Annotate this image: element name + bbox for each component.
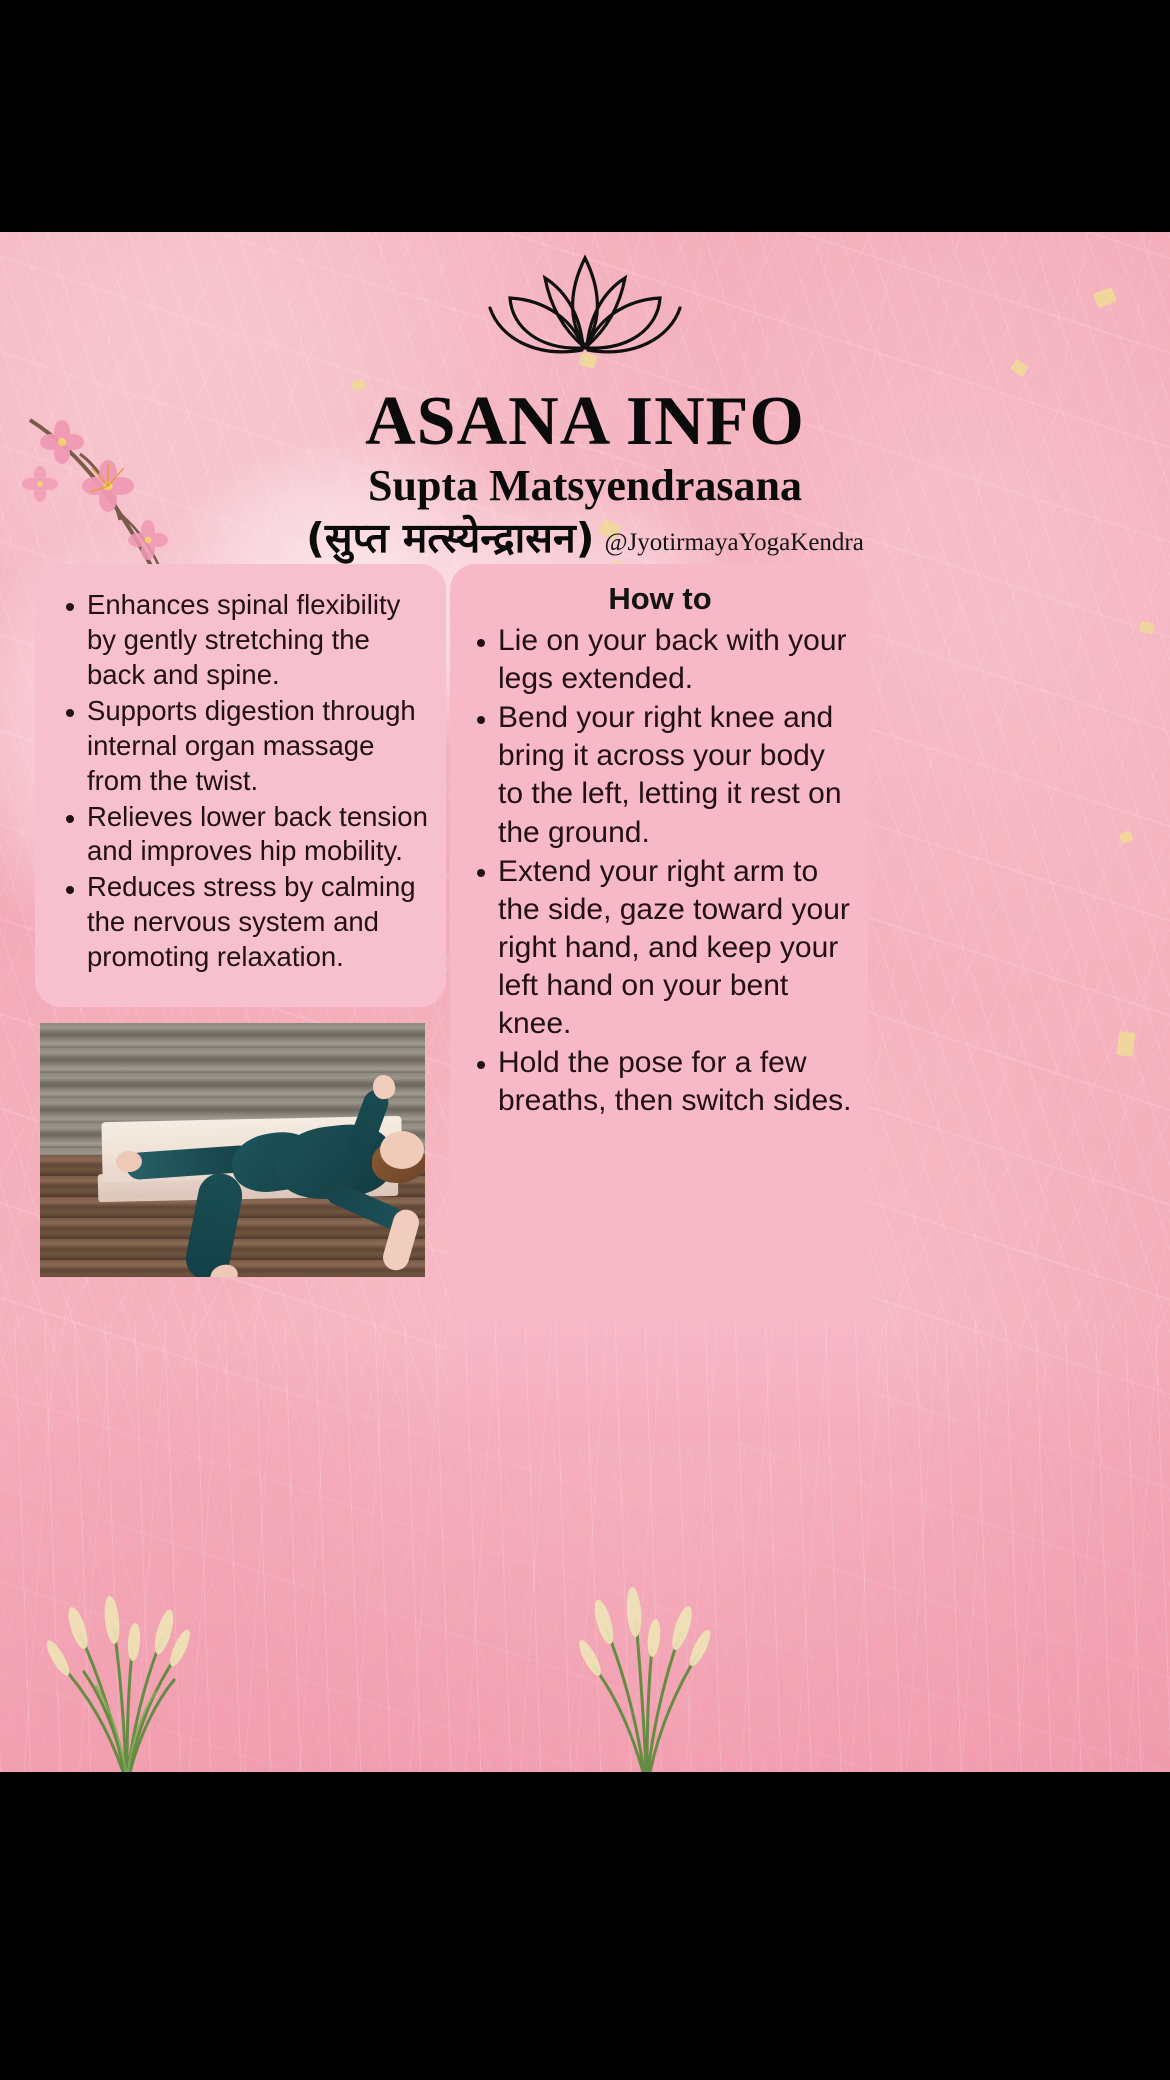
gold-fleck <box>1116 1031 1135 1057</box>
benefits-list: Enhances spinal flexibility by gently st… <box>57 588 428 975</box>
list-item: Reduces stress by calming the nervous sy… <box>57 870 428 975</box>
lotus-icon <box>470 246 700 376</box>
list-item: Enhances spinal flexibility by gently st… <box>57 588 428 693</box>
how-to-list: Lie on your back with your legs extended… <box>468 622 852 1120</box>
list-item: Hold the pose for a few breaths, then sw… <box>468 1044 852 1120</box>
asana-info-poster: ASANA INFO Supta Matsyendrasana (सुप्त म… <box>0 232 1170 1772</box>
grass-tuft-center <box>556 1522 736 1772</box>
social-handle: @JyotirmayaYogaKendra <box>605 530 864 559</box>
devanagari-row: (सुप्त मत्स्येन्द्रासन) @JyotirmayaYogaK… <box>0 518 1170 559</box>
head <box>380 1131 424 1169</box>
list-item: Supports digestion through internal orga… <box>57 694 428 799</box>
list-item: Relieves lower back tension and improves… <box>57 800 428 870</box>
asana-name-devanagari: (सुप्त मत्स्येन्द्रासन) <box>306 518 594 559</box>
how-to-card: How to Lie on your back with your legs e… <box>450 564 868 1441</box>
grass-tuft-left <box>28 1542 238 1772</box>
asana-name-subtitle: Supta Matsyendrasana <box>0 464 1170 508</box>
how-to-heading: How to <box>468 582 852 616</box>
list-item: Bend your right knee and bring it across… <box>468 699 852 851</box>
gold-fleck <box>1139 621 1155 635</box>
list-item: Lie on your back with your legs extended… <box>468 622 852 698</box>
benefits-card: Enhances spinal flexibility by gently st… <box>35 564 446 1007</box>
poster-header: ASANA INFO Supta Matsyendrasana (सुप्त म… <box>0 232 1170 562</box>
gold-fleck <box>1119 830 1134 843</box>
supta-matsyendrasana-pose-photo <box>40 1023 425 1277</box>
list-item: Extend your right arm to the side, gaze … <box>468 853 852 1043</box>
foot <box>116 1151 142 1172</box>
page-title: ASANA INFO <box>0 387 1170 457</box>
screenshot-canvas: ASANA INFO Supta Matsyendrasana (सुप्त म… <box>0 0 1170 2080</box>
